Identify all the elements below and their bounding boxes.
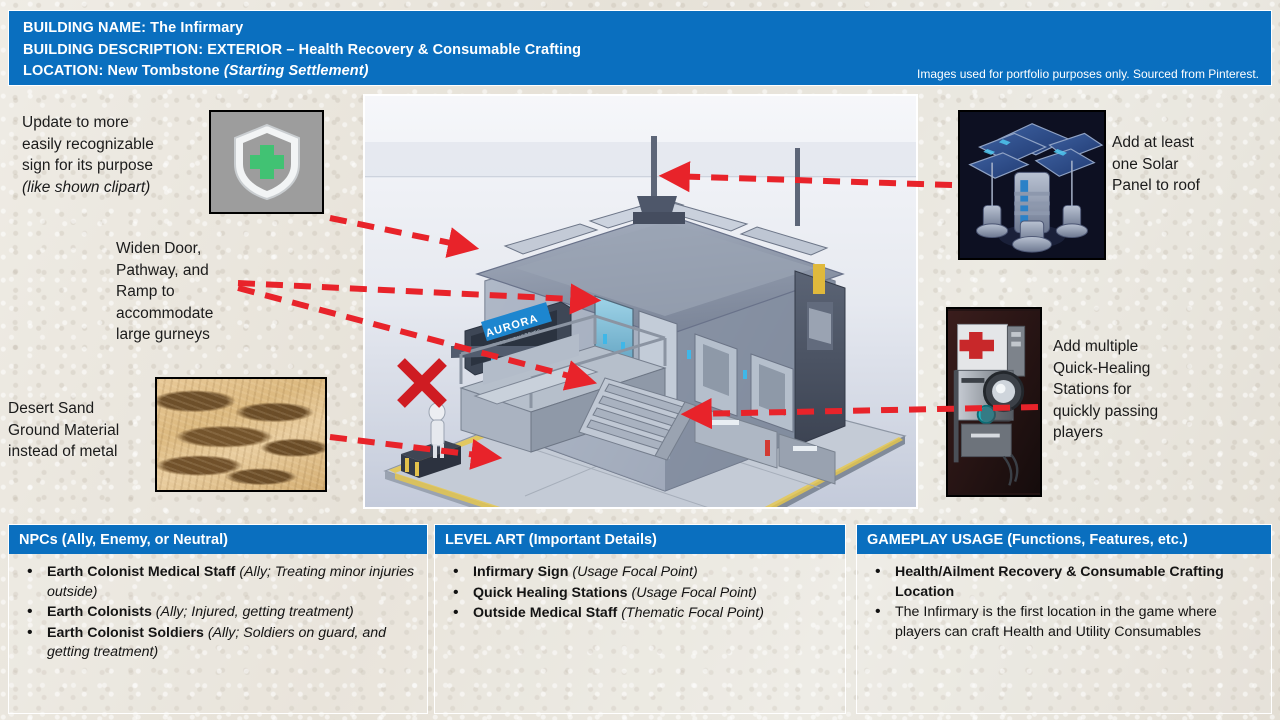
annotation-sign-line1: Update to more (22, 112, 202, 134)
panel-npcs-title: NPCs (Ally, Enemy, or Neutral) (9, 525, 427, 554)
panel-npcs-body: Earth Colonist Medical Staff (Ally; Trea… (9, 554, 427, 663)
credit-note: Images used for portfolio purposes only.… (917, 67, 1259, 81)
panel-gameplay-usage: GAMEPLAY USAGE (Functions, Features, etc… (856, 524, 1272, 714)
thumbnail-medical-shield (209, 110, 324, 214)
thumbnail-desert-sand (155, 377, 327, 492)
list-item: Infirmary Sign (Usage Focal Point) (439, 563, 835, 583)
annotation-healing-line1: Add multiple (1053, 336, 1213, 358)
healing-station-illustration (948, 309, 1040, 495)
building-description-value: EXTERIOR – Health Recovery & Consumable … (207, 42, 581, 58)
annotation-door-line2: Pathway, and (116, 260, 251, 282)
annotation-door-line5: large gurneys (116, 324, 251, 346)
annotation-door: Widen Door, Pathway, and Ramp to accommo… (116, 238, 251, 346)
annotation-sign: Update to more easily recognizable sign … (22, 112, 202, 198)
annotation-solar-line3: Panel to roof (1112, 175, 1252, 197)
annotation-sand: Desert Sand Ground Material instead of m… (8, 398, 158, 463)
annotation-sand-line3: instead of metal (8, 441, 158, 463)
thumbnail-healing-station (946, 307, 1042, 497)
location-value: New Tombstone (108, 63, 220, 79)
gameplay-list: Health/Ailment Recovery & Consumable Cra… (861, 563, 1261, 642)
annotation-sand-line1: Desert Sand (8, 398, 158, 420)
list-item: Quick Healing Stations (Usage Focal Poin… (439, 584, 835, 604)
concept-art-image: 小型驿站 无线信号收发器 舱门开关 停泊接口 (363, 94, 918, 509)
header-banner: BUILDING NAME: The Infirmary BUILDING DE… (8, 10, 1272, 86)
thumbnail-solar-panel (958, 110, 1106, 260)
annotation-healing-line5: players (1053, 422, 1213, 444)
building-name-label: BUILDING NAME: (23, 20, 146, 36)
solar-panel-illustration (960, 112, 1104, 258)
list-item: The Infirmary is the first location in t… (861, 603, 1261, 642)
annotation-sign-line3: sign for its purpose (22, 155, 202, 177)
annotation-door-line4: accommodate (116, 303, 251, 325)
annotation-sign-line4: (like shown clipart) (22, 177, 202, 199)
list-item: Outside Medical Staff (Thematic Focal Po… (439, 604, 835, 624)
list-item: Earth Colonists (Ally; Injured, getting … (13, 603, 417, 623)
annotation-solar-line2: one Solar (1112, 154, 1252, 176)
panel-gameplay-usage-title: GAMEPLAY USAGE (Functions, Features, etc… (857, 525, 1271, 554)
shield-icon (231, 122, 303, 202)
annotation-healing: Add multiple Quick-Healing Stations for … (1053, 336, 1213, 444)
location-note: (Starting Settlement) (224, 63, 369, 79)
panel-level-art-body: Infirmary Sign (Usage Focal Point) Quick… (435, 554, 845, 624)
building-description-label: BUILDING DESCRIPTION: (23, 42, 203, 58)
annotation-sign-line2: easily recognizable (22, 134, 202, 156)
concept-art-illustration: AURORA SPACE INDUSTRIES (365, 96, 918, 509)
annotation-healing-line3: Stations for (1053, 379, 1213, 401)
slide-canvas: BUILDING NAME: The Infirmary BUILDING DE… (0, 0, 1280, 720)
list-item: Earth Colonist Medical Staff (Ally; Trea… (13, 563, 417, 602)
annotation-healing-line2: Quick-Healing (1053, 358, 1213, 380)
list-item: Earth Colonist Soldiers (Ally; Soldiers … (13, 624, 417, 663)
panel-level-art: LEVEL ART (Important Details) Infirmary … (434, 524, 846, 714)
level-art-list: Infirmary Sign (Usage Focal Point) Quick… (439, 563, 835, 624)
annotation-door-line3: Ramp to (116, 281, 251, 303)
panel-level-art-title: LEVEL ART (Important Details) (435, 525, 845, 554)
annotation-healing-line4: quickly passing (1053, 401, 1213, 423)
header-building-description: BUILDING DESCRIPTION: EXTERIOR – Health … (23, 40, 1271, 62)
annotation-sand-line2: Ground Material (8, 420, 158, 442)
panel-npcs: NPCs (Ally, Enemy, or Neutral) Earth Col… (8, 524, 428, 714)
annotation-solar: Add at least one Solar Panel to roof (1112, 132, 1252, 197)
location-label: LOCATION: (23, 63, 103, 79)
panel-gameplay-usage-body: Health/Ailment Recovery & Consumable Cra… (857, 554, 1271, 642)
sand-grain-overlay (157, 379, 325, 490)
building-name-value: The Infirmary (150, 20, 243, 36)
list-item: Health/Ailment Recovery & Consumable Cra… (861, 563, 1261, 602)
npcs-list: Earth Colonist Medical Staff (Ally; Trea… (13, 563, 417, 663)
annotation-solar-line1: Add at least (1112, 132, 1252, 154)
annotation-door-line1: Widen Door, (116, 238, 251, 260)
header-building-name: BUILDING NAME: The Infirmary (23, 18, 1271, 40)
